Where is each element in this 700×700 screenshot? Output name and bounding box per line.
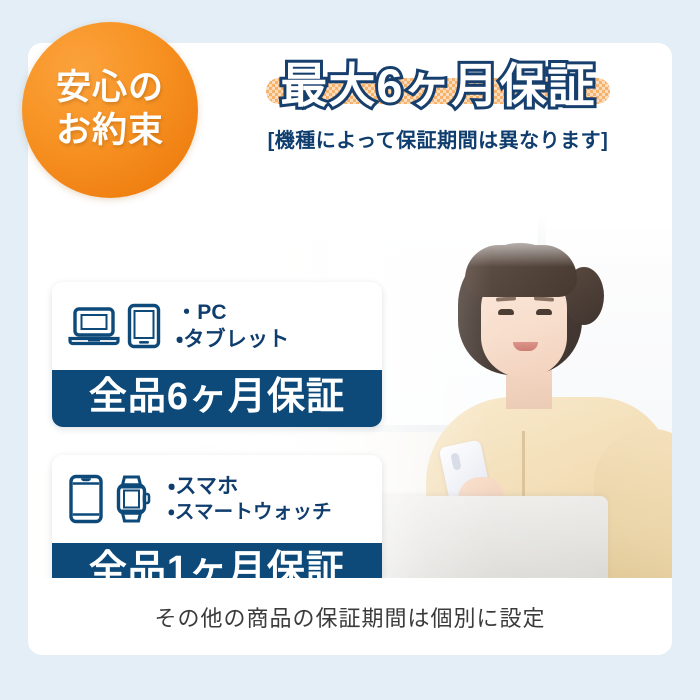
smartphone-icon — [68, 474, 104, 524]
bullet-pc: ・PC — [176, 299, 289, 326]
device-icons-pc-tablet — [68, 303, 161, 349]
assurance-badge: 安心の お約束 — [22, 22, 198, 198]
warranty-banner-pc-tablet: 全品6ヶ月保証 — [52, 370, 382, 427]
title-wrap: 最大6ヶ月保証 [機種によって保証期間は異なります] — [218, 61, 658, 153]
page-subtitle: [機種によって保証期間は異なります] — [218, 124, 658, 153]
laptop-icon — [68, 305, 120, 347]
device-icons-phone-watch — [68, 474, 153, 524]
warranty-banner-text-phone-watch: 全品1ヶ月保証 — [89, 549, 345, 578]
device-list-pc-tablet: ・PC ・タブレット — [176, 299, 289, 354]
hero-photo: ・PC ・タブレット 全品6ヶ月保証 — [28, 215, 672, 578]
footer-note-text: その他の商品の保証期間は個別に設定 — [154, 601, 545, 633]
warranty-banner-phone-watch: 全品1ヶ月保証 — [52, 543, 382, 578]
warranty-banner-text-pc-tablet: 全品6ヶ月保証 — [89, 376, 345, 418]
smartwatch-icon — [111, 474, 153, 524]
warranty-card-phone-watch[interactable]: ・スマホ ・スマートウォッチ 全品1ヶ月保証 — [52, 455, 382, 578]
photo-top-fade — [28, 215, 672, 267]
warranty-card-pc-tablet[interactable]: ・PC ・タブレット 全品6ヶ月保証 — [52, 282, 382, 427]
assurance-badge-line2: お約束 — [56, 110, 164, 153]
device-list-phone-watch: ・スマホ ・スマートウォッチ — [168, 473, 332, 526]
bullet-smartphone: ・スマホ — [168, 473, 332, 500]
page-title: 最大6ヶ月保証 — [280, 59, 595, 112]
title-row: 最大6ヶ月保証 — [266, 61, 609, 110]
card-top-phone-watch: ・スマホ ・スマートウォッチ — [52, 455, 382, 543]
footer-note: その他の商品の保証期間は個別に設定 — [28, 578, 672, 655]
bullet-smartwatch: ・スマートウォッチ — [168, 500, 332, 525]
tablet-icon — [127, 303, 161, 349]
bullet-tablet: ・タブレット — [176, 326, 289, 353]
assurance-badge-line1: 安心の — [56, 67, 164, 110]
card-top-pc-tablet: ・PC ・タブレット — [52, 282, 382, 370]
